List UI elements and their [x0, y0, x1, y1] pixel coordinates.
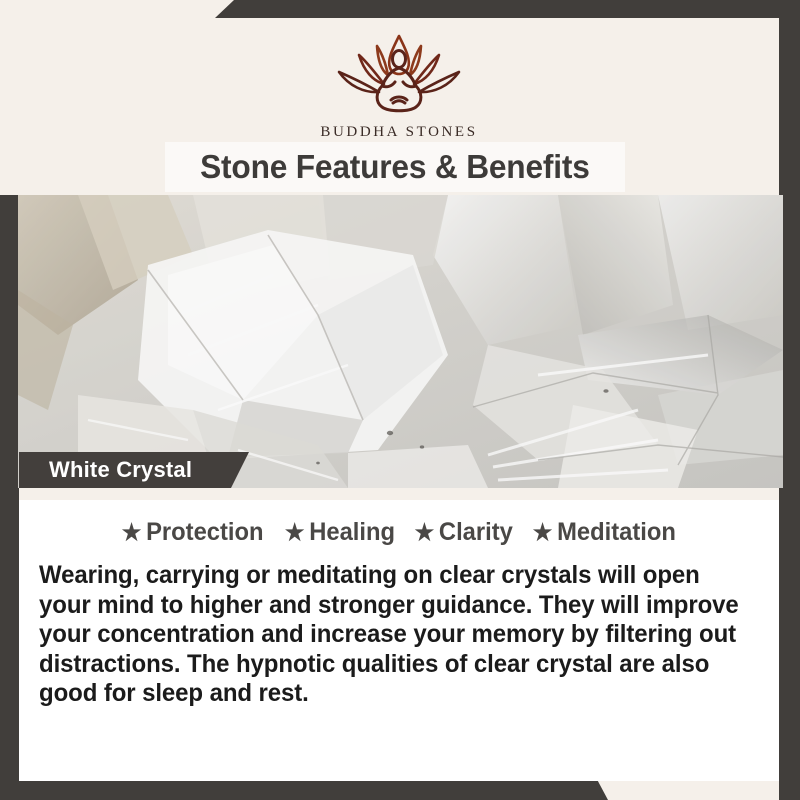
benefit-label: Protection [146, 518, 263, 547]
description-paragraph: Wearing, carrying or meditating on clear… [39, 561, 758, 709]
benefits-list: ★Protection ★Healing ★Clarity ★Meditatio… [39, 518, 759, 547]
page-title-band: Stone Features & Benefits [165, 142, 625, 192]
star-icon: ★ [285, 521, 305, 544]
stone-name-banner: White Crystal [19, 452, 249, 488]
star-icon: ★ [122, 521, 142, 544]
benefit-item-healing: ★Healing [285, 518, 395, 547]
poster-root: BUDDHA STONES Stone Features & Benefits [0, 0, 800, 800]
brand-name: BUDDHA STONES [320, 124, 477, 141]
star-icon: ★ [533, 521, 553, 544]
benefit-label: Meditation [557, 518, 676, 547]
benefit-label: Clarity [438, 518, 512, 547]
content-panel: ★Protection ★Healing ★Clarity ★Meditatio… [19, 500, 779, 781]
benefit-item-protection: ★Protection [122, 518, 264, 547]
stone-name-label: White Crystal [19, 457, 192, 483]
brand-header: BUDDHA STONES [19, 18, 779, 142]
benefit-item-meditation: ★Meditation [533, 518, 676, 547]
white-crystal-cluster-photo [18, 195, 783, 488]
decorative-notch-top [215, 0, 800, 18]
decorative-frame-left [0, 195, 19, 781]
benefit-label: Healing [309, 518, 395, 547]
benefit-item-clarity: ★Clarity [414, 518, 512, 547]
star-icon: ★ [414, 521, 434, 544]
page-title: Stone Features & Benefits [200, 148, 590, 186]
lotus-meditation-icon [329, 30, 469, 121]
